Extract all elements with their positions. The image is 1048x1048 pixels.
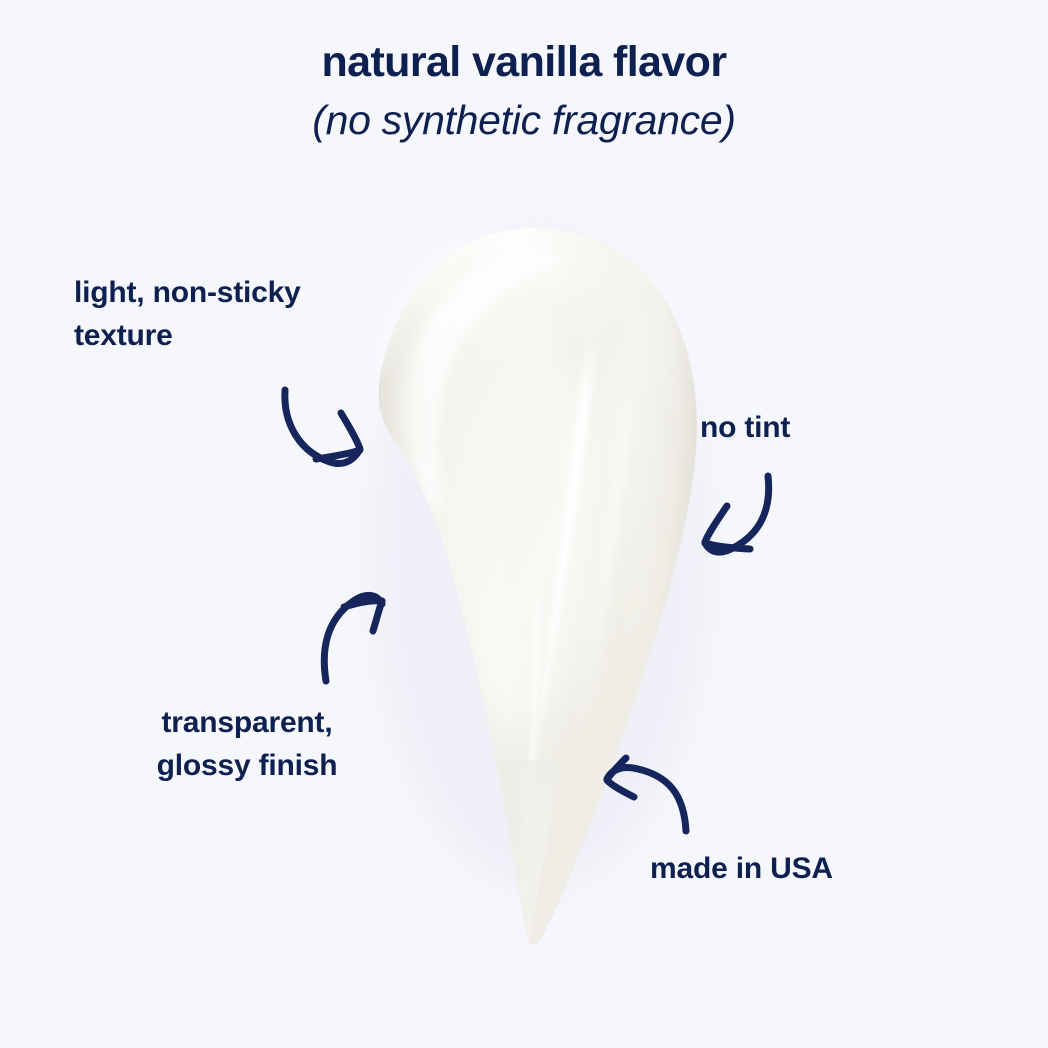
callout-label-tint: no tint [700,407,940,450]
callout-label-glossy: transparent, glossy finish [72,702,422,787]
callout-label-texture: light, non-sticky texture [74,272,414,357]
cream-gel-droplet-swatch [0,0,1048,1048]
product-feature-graphic: natural vanilla flavor (no synthetic fra… [0,0,1048,1048]
page-subtitle: (no synthetic fragrance) [0,96,1048,144]
title-block: natural vanilla flavor (no synthetic fra… [0,40,1048,144]
page-title: natural vanilla flavor [0,40,1048,86]
callout-label-usa: made in USA [650,848,950,891]
